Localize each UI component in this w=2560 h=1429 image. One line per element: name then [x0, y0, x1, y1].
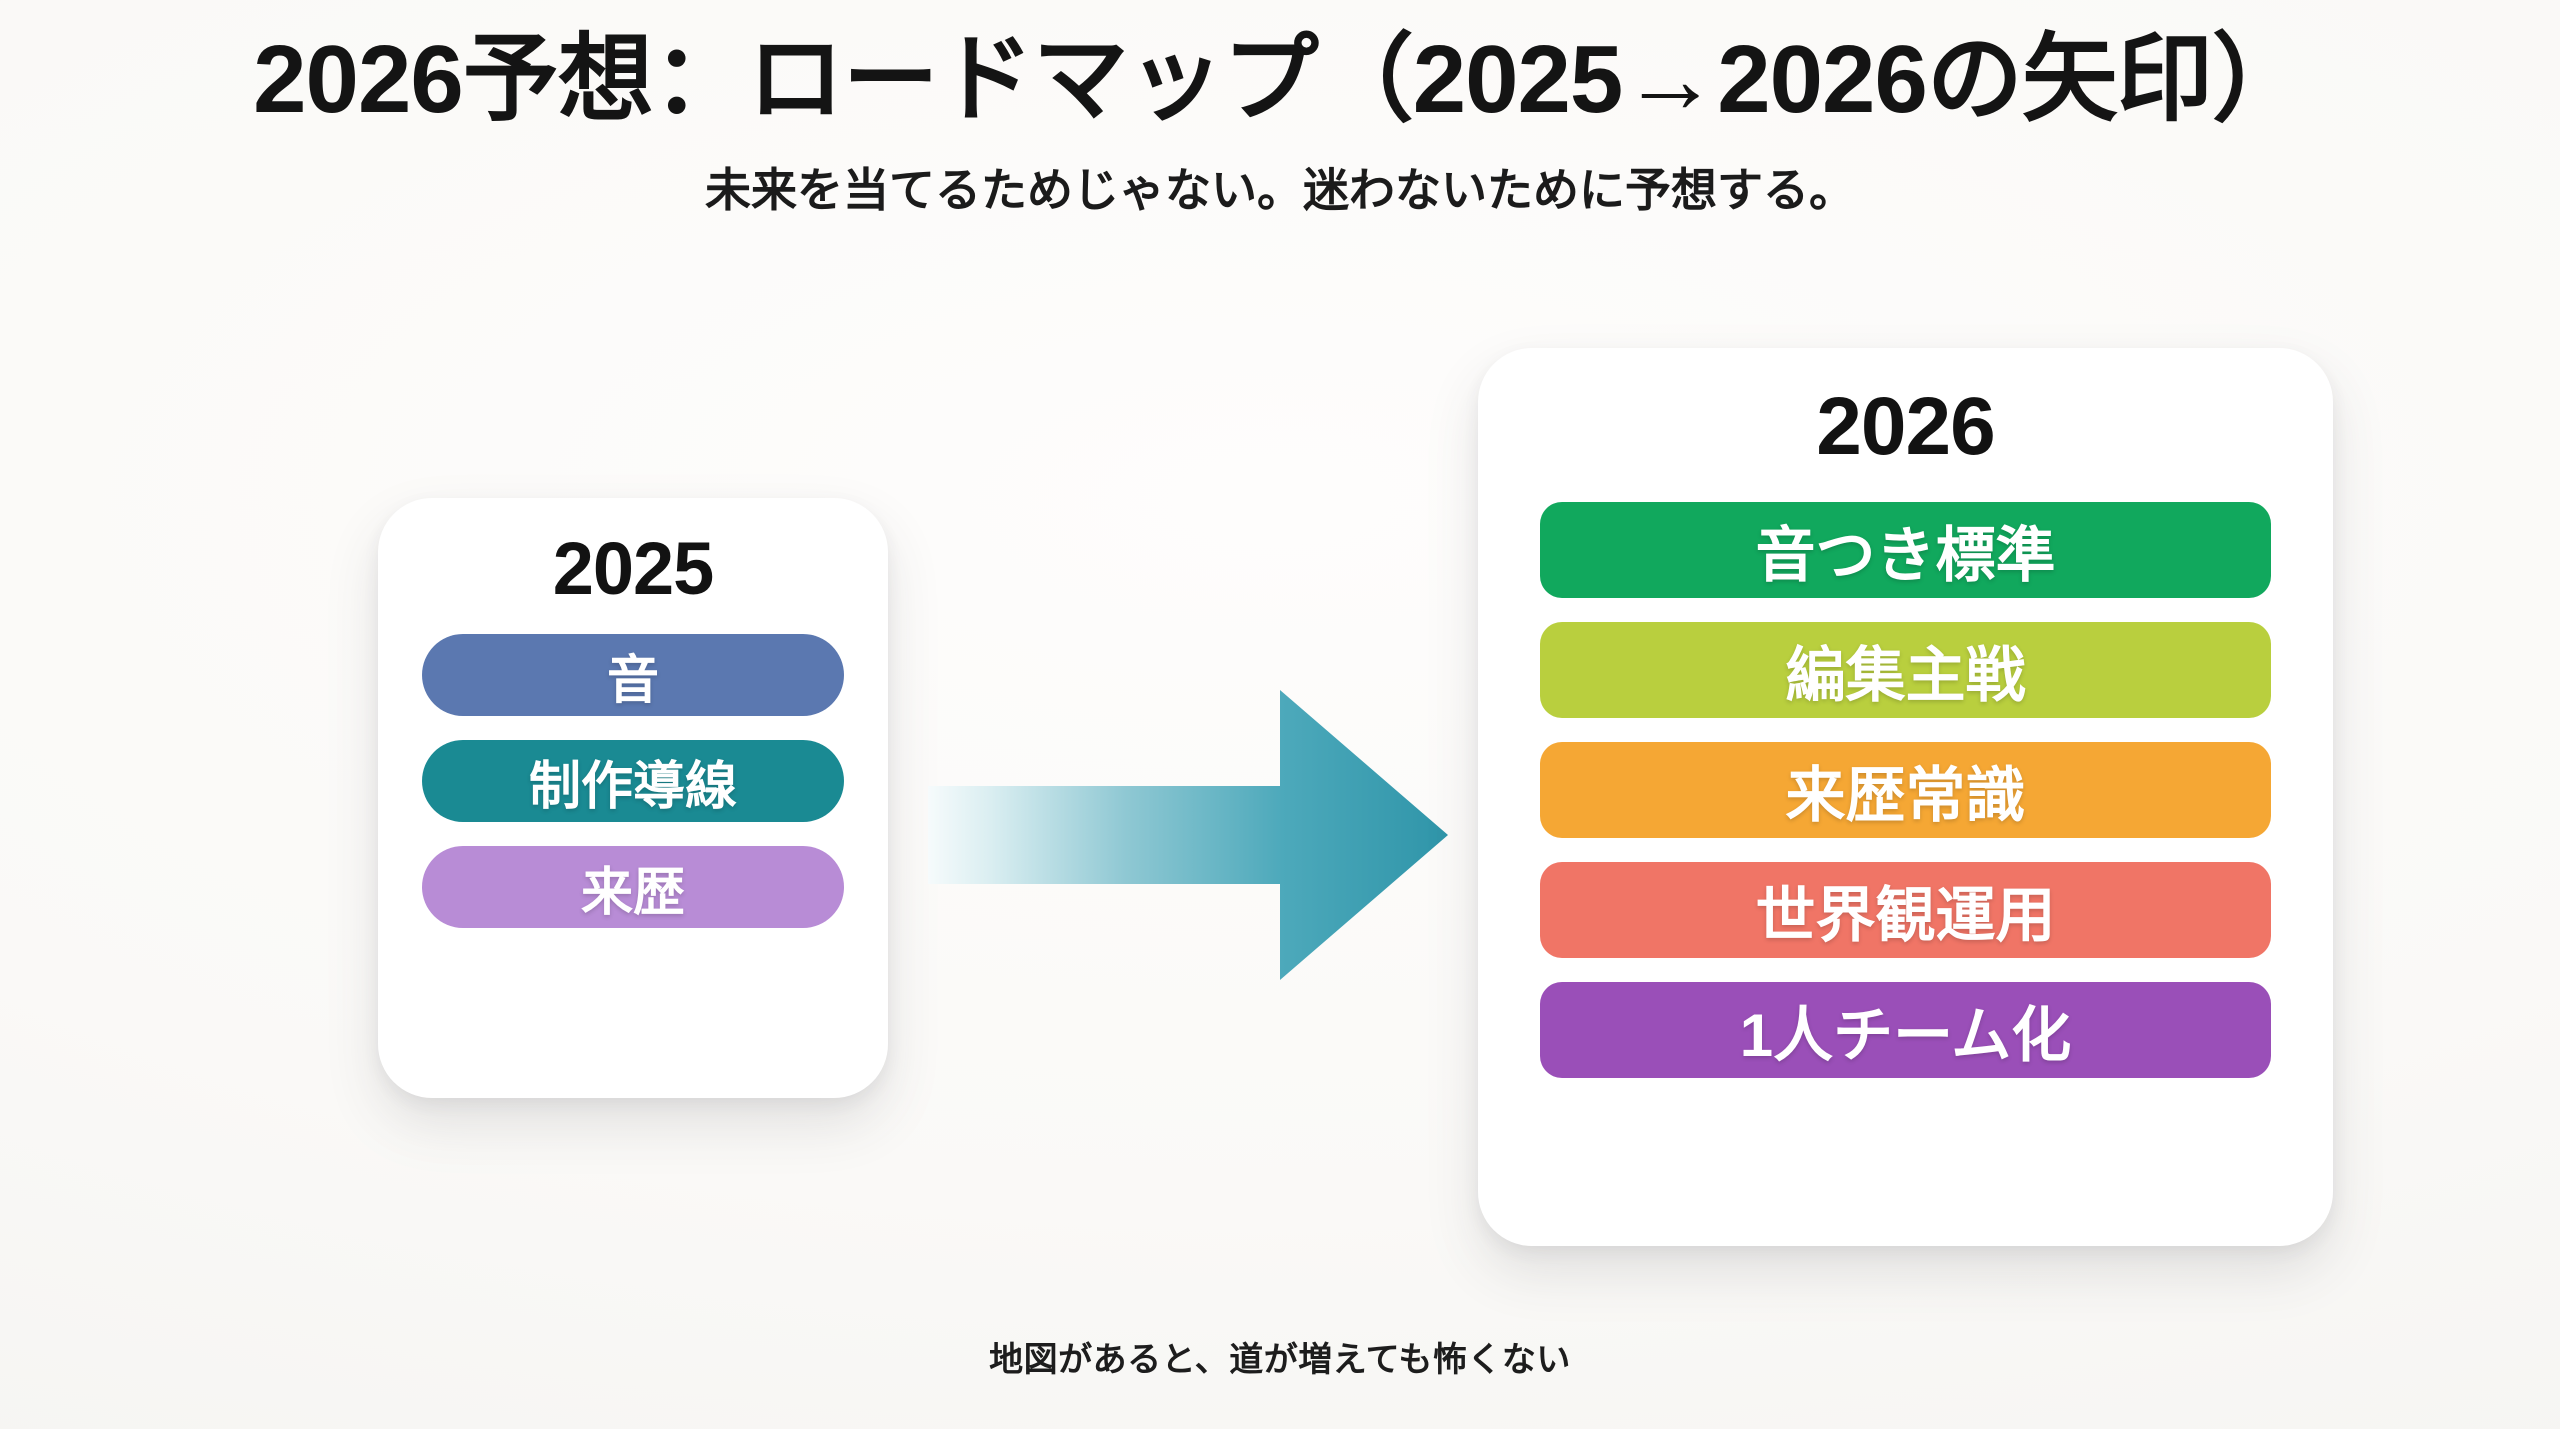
pill-2026-3[interactable]: 世界観運用: [1540, 862, 2271, 958]
pill-stack-2026: 音つき標準 編集主戦 来歴常識 世界観運用 1人チーム化: [1540, 502, 2271, 1078]
pill-label: 音: [607, 638, 659, 713]
pill-label: 世界観運用: [1756, 867, 2056, 954]
pill-label: 来歴: [581, 850, 685, 925]
pill-label: 編集主戦: [1786, 627, 2026, 714]
pill-label: 制作導線: [529, 744, 737, 819]
slide-caption: 地図があると、道が増えても怖くない: [0, 1332, 2560, 1381]
year-card-2026: 2026 音つき標準 編集主戦 来歴常識 世界観運用 1人チーム化: [1478, 348, 2333, 1246]
pill-label: 音つき標準: [1756, 507, 2056, 594]
roadmap-diagram: 2025 音 制作導線 来歴: [0, 0, 2560, 1429]
pill-2025-1[interactable]: 制作導線: [422, 740, 844, 822]
pill-label: 1人チーム化: [1740, 987, 2072, 1074]
pill-2025-0[interactable]: 音: [422, 634, 844, 716]
year-label-2025: 2025: [553, 532, 714, 606]
right-arrow-icon: [928, 690, 1448, 980]
pill-2026-0[interactable]: 音つき標準: [1540, 502, 2271, 598]
pill-label: 来歴常識: [1786, 747, 2026, 834]
year-label-2026: 2026: [1816, 386, 1994, 468]
year-card-2025: 2025 音 制作導線 来歴: [378, 498, 888, 1098]
pill-stack-2025: 音 制作導線 来歴: [422, 634, 844, 928]
pill-2026-1[interactable]: 編集主戦: [1540, 622, 2271, 718]
pill-2026-2[interactable]: 来歴常識: [1540, 742, 2271, 838]
pill-2025-2[interactable]: 来歴: [422, 846, 844, 928]
pill-2026-4[interactable]: 1人チーム化: [1540, 982, 2271, 1078]
